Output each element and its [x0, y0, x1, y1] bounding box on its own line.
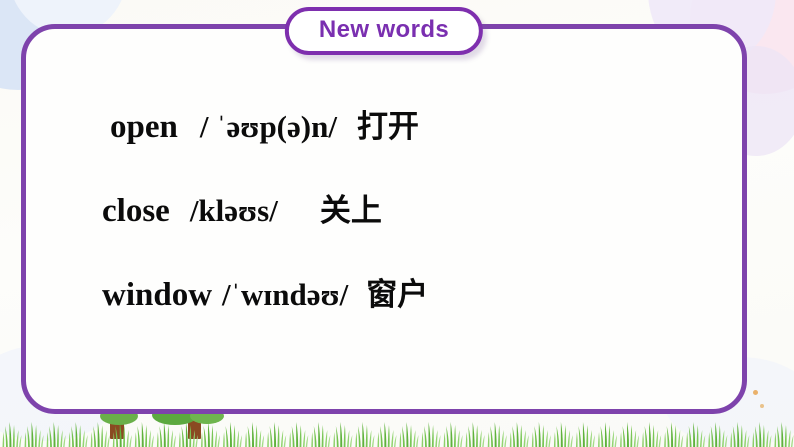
section-title-label: New words [319, 16, 449, 43]
word-phonetic: / ˈəʊp(ə)n/ [200, 109, 337, 145]
vocabulary-list: open / ˈəʊp(ə)n/ 打开 close /kləʊs/ 关上 win… [26, 101, 742, 353]
word-translation: 窗户 [366, 269, 428, 314]
section-title-badge: New words [285, 7, 483, 55]
word-phonetic: /kləʊs/ [190, 193, 278, 229]
word-phonetic: /ˈwɪndəʊ/ [222, 277, 348, 313]
content-card: New words open / ˈəʊp(ə)n/ 打开 close /klə… [21, 24, 747, 414]
grass-strip [0, 413, 794, 447]
flower-speck-icon [753, 390, 758, 395]
flower-speck-icon [760, 404, 764, 408]
word-translation: 打开 [357, 101, 419, 146]
vocabulary-row: close /kləʊs/ 关上 [26, 185, 742, 269]
word-term: open [110, 109, 178, 146]
word-term: window [102, 277, 212, 314]
slide-canvas: New words open / ˈəʊp(ə)n/ 打开 close /klə… [0, 0, 794, 447]
word-term: close [102, 193, 170, 230]
vocabulary-row: window /ˈwɪndəʊ/ 窗户 [26, 269, 742, 353]
word-translation: 关上 [320, 185, 382, 230]
vocabulary-row: open / ˈəʊp(ə)n/ 打开 [26, 101, 742, 185]
